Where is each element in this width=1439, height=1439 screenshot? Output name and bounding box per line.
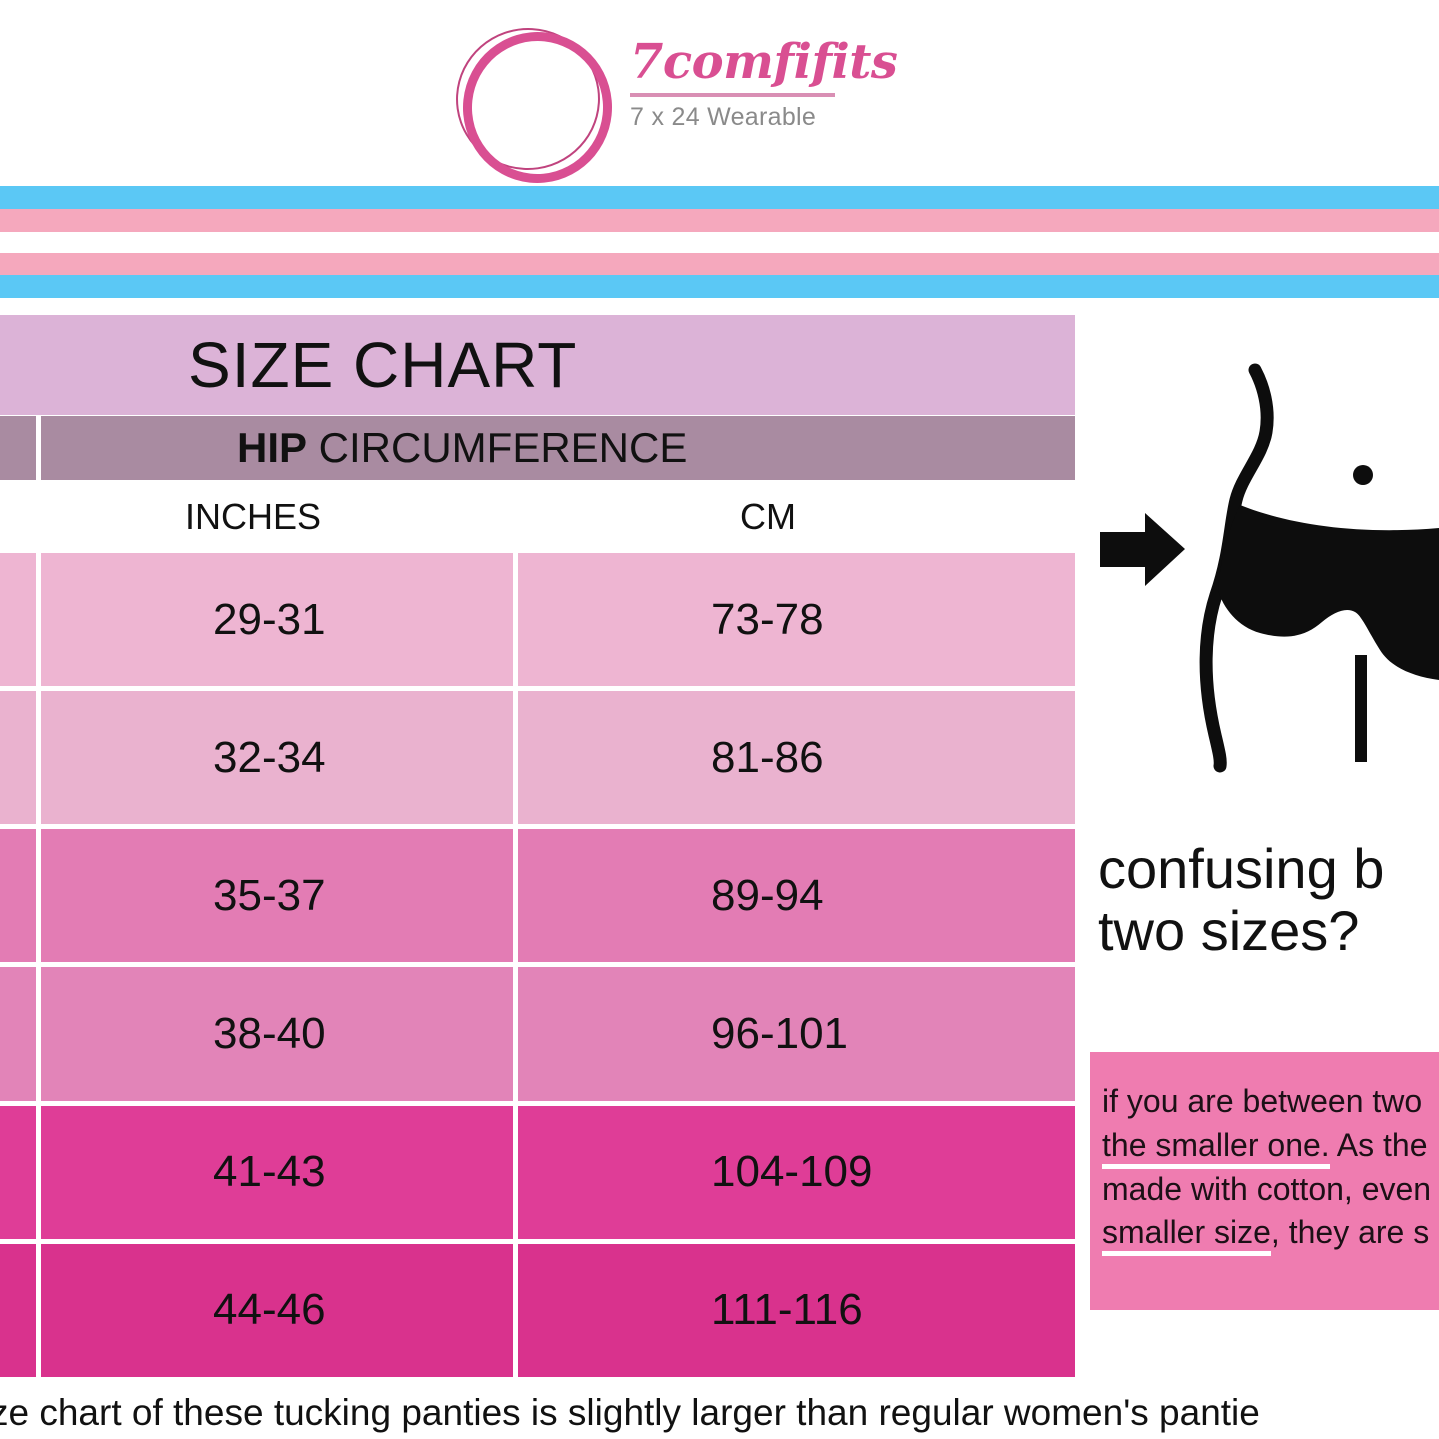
- advice-underline-2: smaller size: [1102, 1214, 1271, 1256]
- brand-tagline: 7 x 24 Wearable: [630, 103, 930, 132]
- size-label-cell: [0, 967, 36, 1100]
- cm-cell: 81-86: [518, 691, 1075, 824]
- cm-value: 73-78: [518, 595, 824, 645]
- heading-line-2: two sizes?: [1098, 900, 1439, 962]
- cm-value: 104-109: [518, 1147, 872, 1197]
- table-row: 44-46111-116: [0, 1244, 1075, 1377]
- brand-wordmark: 7comfifits: [630, 38, 930, 86]
- cm-cell: 73-78: [518, 553, 1075, 686]
- cm-cell: 96-101: [518, 967, 1075, 1100]
- size-chart-page: 7comfifits 7 x 24 Wearable SIZE CHART HI…: [0, 0, 1439, 1439]
- torso-panties-silhouette-icon: [1206, 370, 1439, 766]
- size-label-cell: [0, 1106, 36, 1239]
- advice-line-4: smaller size, they are s: [1102, 1211, 1439, 1255]
- subtitle-band-left-cap: [0, 416, 36, 480]
- stripe-blue-top: [0, 186, 1439, 209]
- inches-value: 38-40: [41, 1009, 326, 1059]
- table-row: 38-4096-101: [0, 967, 1075, 1100]
- cm-value: 111-116: [518, 1285, 863, 1335]
- table-row: 29-3173-78: [0, 553, 1075, 686]
- heading-line-1: confusing b: [1098, 838, 1439, 900]
- subtitle-band: HIP CIRCUMFERENCE: [41, 416, 1075, 480]
- inches-cell: 29-31: [41, 553, 513, 686]
- cm-value: 96-101: [518, 1009, 848, 1059]
- circle-outline-icon: [455, 28, 605, 171]
- size-label-cell: [0, 553, 36, 686]
- column-header-cm: CM: [740, 496, 796, 538]
- advice-underline-1: the smaller one.: [1102, 1127, 1330, 1169]
- inches-value: 29-31: [41, 595, 326, 645]
- size-label-cell: [0, 829, 36, 962]
- subtitle-text: HIP CIRCUMFERENCE: [237, 424, 687, 472]
- brand-divider: [630, 93, 835, 97]
- size-label-cell: [0, 691, 36, 824]
- table-row: 35-3789-94: [0, 829, 1075, 962]
- size-label-cell: [0, 1244, 36, 1377]
- stripe-white-middle: [0, 232, 1439, 253]
- column-header-row: INCHES CM: [0, 482, 1075, 552]
- sizing-advice-box: if you are between two the smaller one. …: [1090, 1052, 1439, 1310]
- inches-cell: 44-46: [41, 1244, 513, 1377]
- inches-cell: 41-43: [41, 1106, 513, 1239]
- cm-cell: 111-116: [518, 1244, 1075, 1377]
- hip-measurement-illustration: [1090, 350, 1439, 800]
- size-table: 29-3173-7832-3481-8635-3789-9438-4096-10…: [0, 553, 1075, 1352]
- cm-cell: 104-109: [518, 1106, 1075, 1239]
- table-row: 41-43104-109: [0, 1106, 1075, 1239]
- stripe-pink-top: [0, 209, 1439, 232]
- cm-value: 81-86: [518, 733, 824, 783]
- inches-cell: 35-37: [41, 829, 513, 962]
- right-arrow-icon: [1100, 513, 1185, 586]
- right-panel-heading: confusing b two sizes?: [1098, 838, 1439, 961]
- sizing-advice-text: if you are between two the smaller one. …: [1102, 1080, 1439, 1255]
- subtitle-bold: HIP: [237, 424, 307, 471]
- cm-value: 89-94: [518, 871, 824, 921]
- stripe-pink-bottom: [0, 253, 1439, 275]
- inches-value: 41-43: [41, 1147, 326, 1197]
- inches-value: 32-34: [41, 733, 326, 783]
- size-chart-title-band: SIZE CHART: [0, 315, 1075, 415]
- advice-line-3: made with cotton, even: [1102, 1168, 1439, 1212]
- advice-line-1: if you are between two: [1102, 1080, 1439, 1124]
- inches-value: 44-46: [41, 1285, 326, 1335]
- advice-line-2: the smaller one. As the: [1102, 1124, 1439, 1168]
- brand-text-block: 7comfifits 7 x 24 Wearable: [630, 38, 930, 132]
- table-row: 32-3481-86: [0, 691, 1075, 824]
- page-title: SIZE CHART: [188, 328, 577, 402]
- inches-cell: 38-40: [41, 967, 513, 1100]
- stripe-blue-bottom: [0, 275, 1439, 298]
- inches-cell: 32-34: [41, 691, 513, 824]
- column-header-inches: INCHES: [185, 496, 321, 538]
- footer-caption: ze chart of these tucking panties is sli…: [0, 1392, 1439, 1434]
- brand-header: 7comfifits 7 x 24 Wearable: [0, 0, 1439, 186]
- subtitle-rest: CIRCUMFERENCE: [307, 424, 687, 471]
- cm-cell: 89-94: [518, 829, 1075, 962]
- inches-value: 35-37: [41, 871, 326, 921]
